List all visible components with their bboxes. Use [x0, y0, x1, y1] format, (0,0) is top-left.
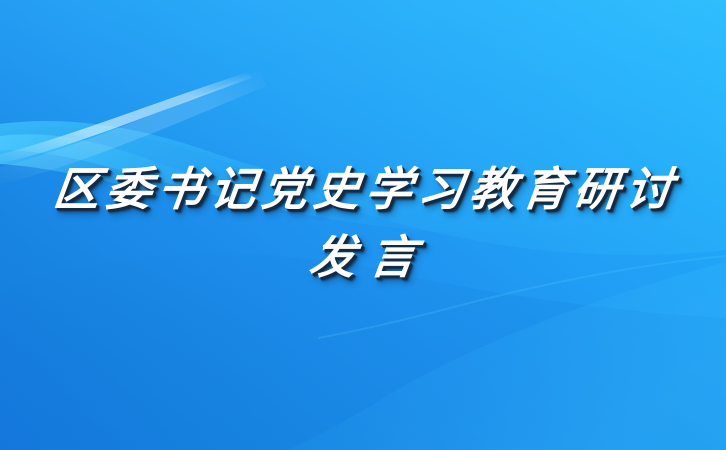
- title-line-2: 发言: [0, 226, 726, 288]
- title-line-1: 区委书记党史学习教育研讨: [0, 158, 726, 220]
- title-banner: 区委书记党史学习教育研讨 发言: [0, 0, 726, 450]
- banner-title: 区委书记党史学习教育研讨 发言: [0, 158, 726, 288]
